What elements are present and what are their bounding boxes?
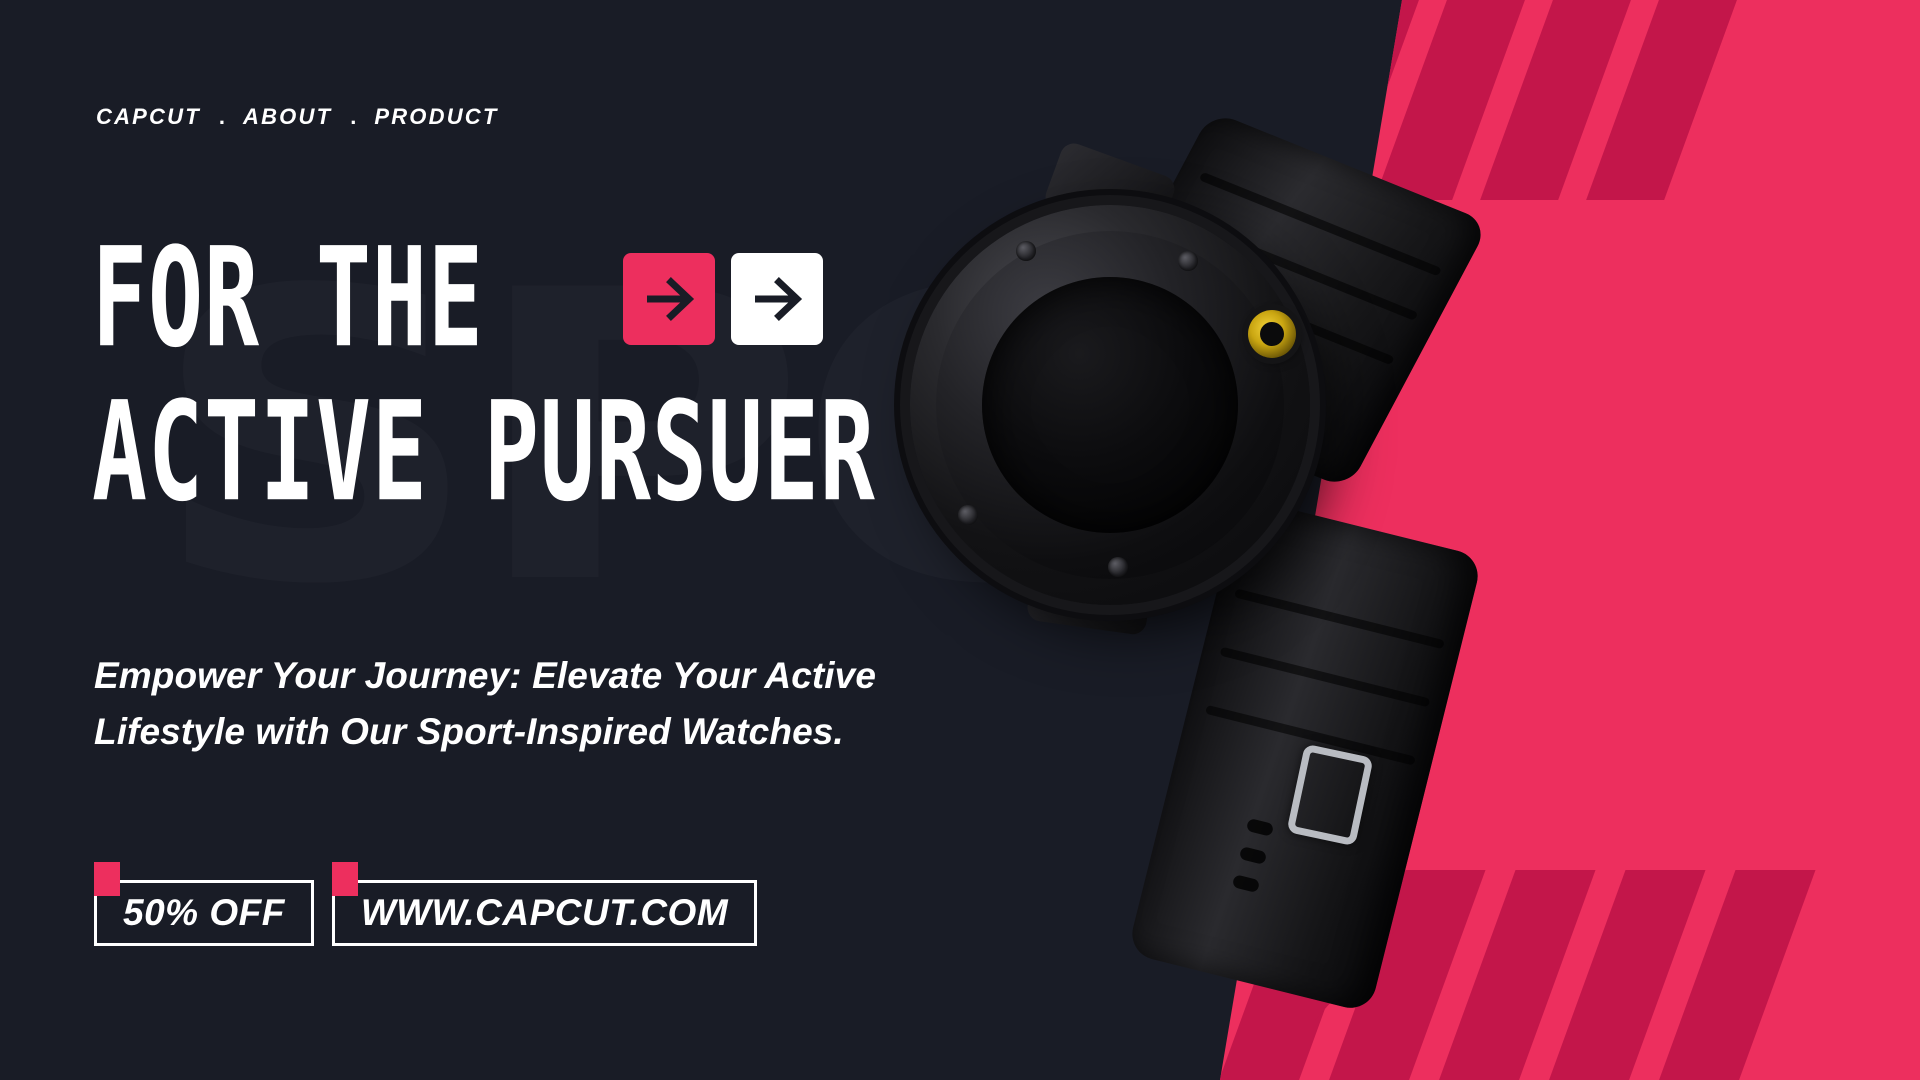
nav-separator: . (332, 104, 374, 130)
watch-screw (1108, 557, 1128, 577)
headline-line-2: ACTIVE PURSUER (92, 386, 876, 521)
product-image-smartwatch (880, 120, 1600, 960)
nav-item-capcut[interactable]: CAPCUT (96, 104, 201, 130)
watch-screw (958, 505, 978, 525)
arrow-right-icon (750, 272, 804, 326)
discount-label: 50% OFF (123, 892, 285, 934)
arrow-button-secondary[interactable] (731, 253, 823, 345)
hero-headline: FOR THE ACTIVE PURSUER (92, 248, 983, 504)
headline-line-1: FOR THE (92, 232, 484, 367)
discount-badge[interactable]: 50% OFF (94, 880, 314, 946)
arrow-button-primary[interactable] (623, 253, 715, 345)
watch-screw (1016, 241, 1036, 261)
arrow-button-group (623, 253, 823, 345)
watch-bezel (936, 231, 1284, 579)
strap-rib (1234, 588, 1445, 649)
discount-badge-wrapper: 50% OFF (94, 880, 314, 946)
pink-accent-square (94, 862, 120, 896)
strap-rib (1219, 647, 1430, 708)
arrow-right-icon (642, 272, 696, 326)
watch-crown-button (1248, 310, 1296, 358)
watch-crown-core (1260, 322, 1284, 346)
strap-hole (1239, 846, 1267, 865)
watch-screw (1178, 251, 1198, 271)
nav-item-about[interactable]: ABOUT (243, 104, 332, 130)
subtitle-line-1: Empower Your Journey: Elevate Your Activ… (94, 648, 854, 704)
hero-subtitle: Empower Your Journey: Elevate Your Activ… (94, 648, 854, 760)
pink-accent-square (332, 862, 358, 896)
nav-item-product[interactable]: PRODUCT (374, 104, 498, 130)
headline-row-1: FOR THE (92, 248, 983, 350)
website-badge-wrapper: WWW.CAPCUT.COM (332, 880, 757, 946)
website-label: WWW.CAPCUT.COM (361, 892, 728, 934)
subtitle-line-2: Lifestyle with Our Sport-Inspired Watche… (94, 704, 854, 760)
nav-separator: . (201, 104, 243, 130)
cta-group: 50% OFF WWW.CAPCUT.COM (94, 880, 757, 946)
website-badge[interactable]: WWW.CAPCUT.COM (332, 880, 757, 946)
watch-face-screen (982, 277, 1238, 533)
promo-banner: SPO CAPCUT . ABOUT . PRODUCT FOR THE (0, 0, 1920, 1080)
top-navigation: CAPCUT . ABOUT . PRODUCT (96, 104, 499, 130)
